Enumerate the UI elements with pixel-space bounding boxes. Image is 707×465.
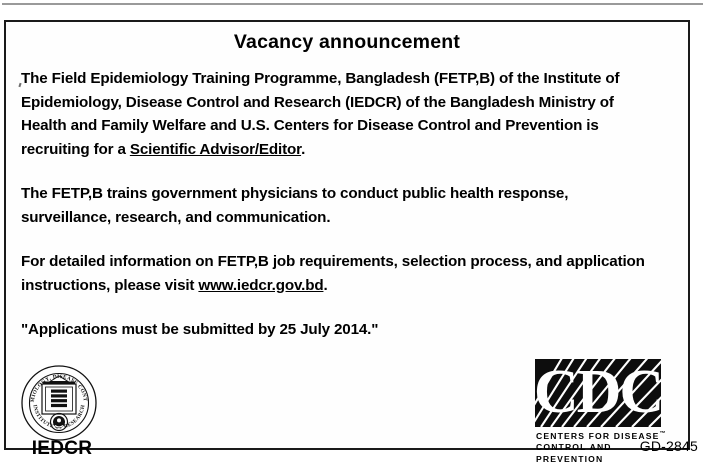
paragraph-intro-period: . [301,141,305,158]
announcement-body: The Field Epidemiology Training Programm… [21,67,661,342]
cdc-logo-icon: CDC [535,359,661,427]
figure-code: GD-2845 [640,438,698,454]
deadline-text: "Applications must be submitted by 25 Ju… [21,321,378,338]
paragraph-training-text: The FETP,B trains government physicians … [21,185,568,226]
iedcr-caption: IEDCR [14,438,110,460]
job-title-link[interactable]: Scientific Advisor/Editor [130,141,301,158]
cdc-tagline-line2: CONTROL AND PREVENTION [536,442,612,464]
paragraph-details-period: . [323,277,327,294]
iedcr-seal-icon: EPIDEMIOLOGY, DISEASE CONTROL & INSTITUT… [20,364,98,442]
iedcr-logo: EPIDEMIOLOGY, DISEASE CONTROL & INSTITUT… [14,364,110,460]
top-rule [2,3,703,5]
website-link[interactable]: www.iedcr.gov.bd [198,277,323,294]
cdc-letters: CDC [535,359,661,427]
page-title: Vacancy announcement [6,31,688,54]
paragraph-intro: The Field Epidemiology Training Programm… [21,67,661,161]
paragraph-details-text: For detailed information on FETP,B job r… [21,253,645,294]
paragraph-training: The FETP,B trains government physicians … [21,182,661,229]
paragraph-deadline: "Applications must be submitted by 25 Ju… [21,318,661,342]
announcement-box: Vacancy announcement The Field Epidemiol… [4,20,690,450]
paragraph-details: For detailed information on FETP,B job r… [21,250,661,297]
paragraph-intro-text: The Field Epidemiology Training Programm… [21,70,619,158]
cdc-trademark-icon: ™ [660,431,666,437]
